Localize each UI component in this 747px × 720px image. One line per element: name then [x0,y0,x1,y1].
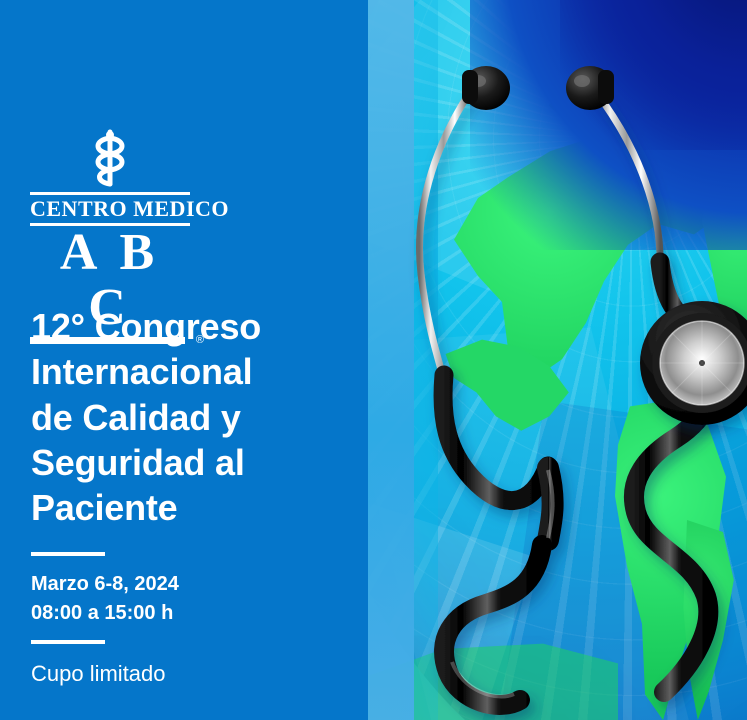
stethoscope-graphic [368,0,747,720]
caduceus-serpent-icon [80,128,140,188]
title-line: Paciente [31,485,331,530]
event-date: Marzo 6-8, 2024 [31,570,331,599]
stethoscope-earpiece-right [566,66,614,110]
divider-bottom [31,640,105,644]
divider-top [31,552,105,556]
event-schedule: Marzo 6-8, 2024 08:00 a 15:00 h [31,570,331,628]
congress-poster: CENTRO MEDICO A B C ® 12° Congreso Inter… [0,0,747,720]
artwork-image [368,0,747,720]
logo-rule-top [30,192,190,195]
page-title: 12° Congreso Internacional de Calidad y … [31,304,331,531]
info-panel: CENTRO MEDICO A B C ® 12° Congreso Inter… [0,0,368,720]
capacity-note: Cupo limitado [31,661,166,687]
stethoscope-chestpiece [640,301,747,425]
date-block: Marzo 6-8, 2024 08:00 a 15:00 h [31,552,331,644]
event-time: 08:00 a 15:00 h [31,599,331,628]
title-line: Seguridad al [31,440,331,485]
title-line: de Calidad y [31,395,331,440]
logo-centro-medico-text: CENTRO MEDICO [30,198,190,220]
title-line: Internacional [31,349,331,394]
stethoscope-earpiece-left [462,66,510,110]
title-line: 12° Congreso [31,304,331,349]
stethoscope-binaurals [420,92,661,380]
